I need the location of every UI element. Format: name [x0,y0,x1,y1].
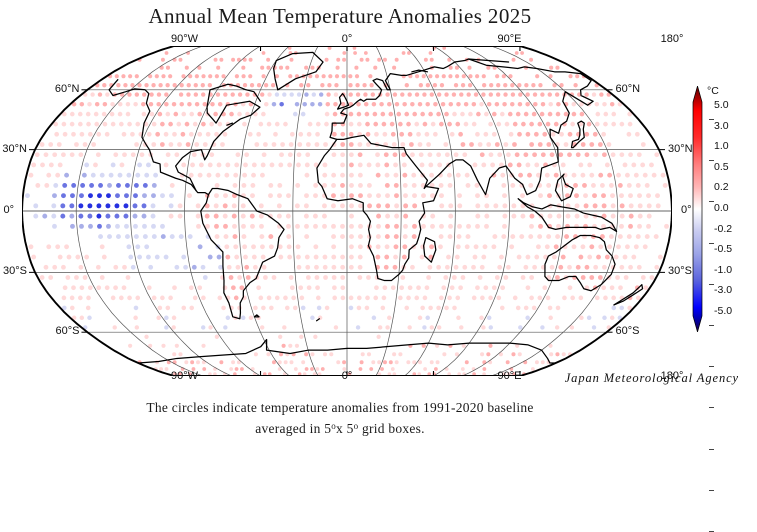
lon-label-bot-1: 90°E [480,370,540,382]
chart-title: Annual Mean Temperature Anomalies 2025 [0,4,680,29]
colorbar-tick-4: 0.2 [714,181,729,193]
lat-label-right-0: 60°N [616,83,670,95]
lon-label-bot-0: 0° [317,370,377,382]
colorbar-tick-1: 3.0 [714,120,729,132]
colorbar-tick-mark-7 [709,407,714,408]
colorbar-tick-10: -5.0 [714,305,732,317]
colorbar-tick-mark-6 [709,366,714,367]
caption-line-1: The circles indicate temperature anomali… [0,398,680,417]
lat-label-left-0: 60°N [25,83,79,95]
agency-credit: Japan Meteorological Agency [565,371,739,386]
colorbar-tick-labels: 5.03.01.00.50.20.0-0.2-0.5-1.0-3.0-5.0 [704,86,754,332]
anomaly-map [22,46,672,376]
colorbar-tick-2: 1.0 [714,140,729,152]
lat-label-left-3: 30°S [0,265,27,277]
colorbar-tick-6: -0.2 [714,223,732,235]
lon-label-top-2: 180° [642,33,702,45]
lat-label-right-4: 60°S [616,325,670,337]
colorbar-tick-8: -1.0 [714,264,732,276]
colorbar-tick-0: 5.0 [714,99,729,111]
colorbar-tick-3: 0.5 [714,161,729,173]
lon-label-top-1: 90°E [480,33,540,45]
caption-line-2: averaged in 5ox 5o grid boxes. [0,417,680,438]
lat-label-left-1: 30°N [0,143,27,155]
map-plot-area [22,46,672,376]
colorbar-tick-mark-9 [709,490,714,491]
lon-label-bot-3: 90°W [155,370,215,382]
colorbar-tick-mark-8 [709,449,714,450]
lon-label-top-0: 0° [317,33,377,45]
lat-label-left-2: 0° [0,204,14,216]
figure-caption: The circles indicate temperature anomali… [0,398,680,438]
colorbar: °C 5.03.01.00.50.20.0-0.2-0.5-1.0-3.0-5.… [688,86,754,332]
lon-label-top-3: 90°W [155,33,215,45]
colorbar-tick-5: 0.0 [714,202,729,214]
colorbar-tick-9: -3.0 [714,284,732,296]
colorbar-tick-7: -0.5 [714,243,732,255]
colorbar-tick-mark-5 [709,325,714,326]
lat-label-left-4: 60°S [25,325,79,337]
